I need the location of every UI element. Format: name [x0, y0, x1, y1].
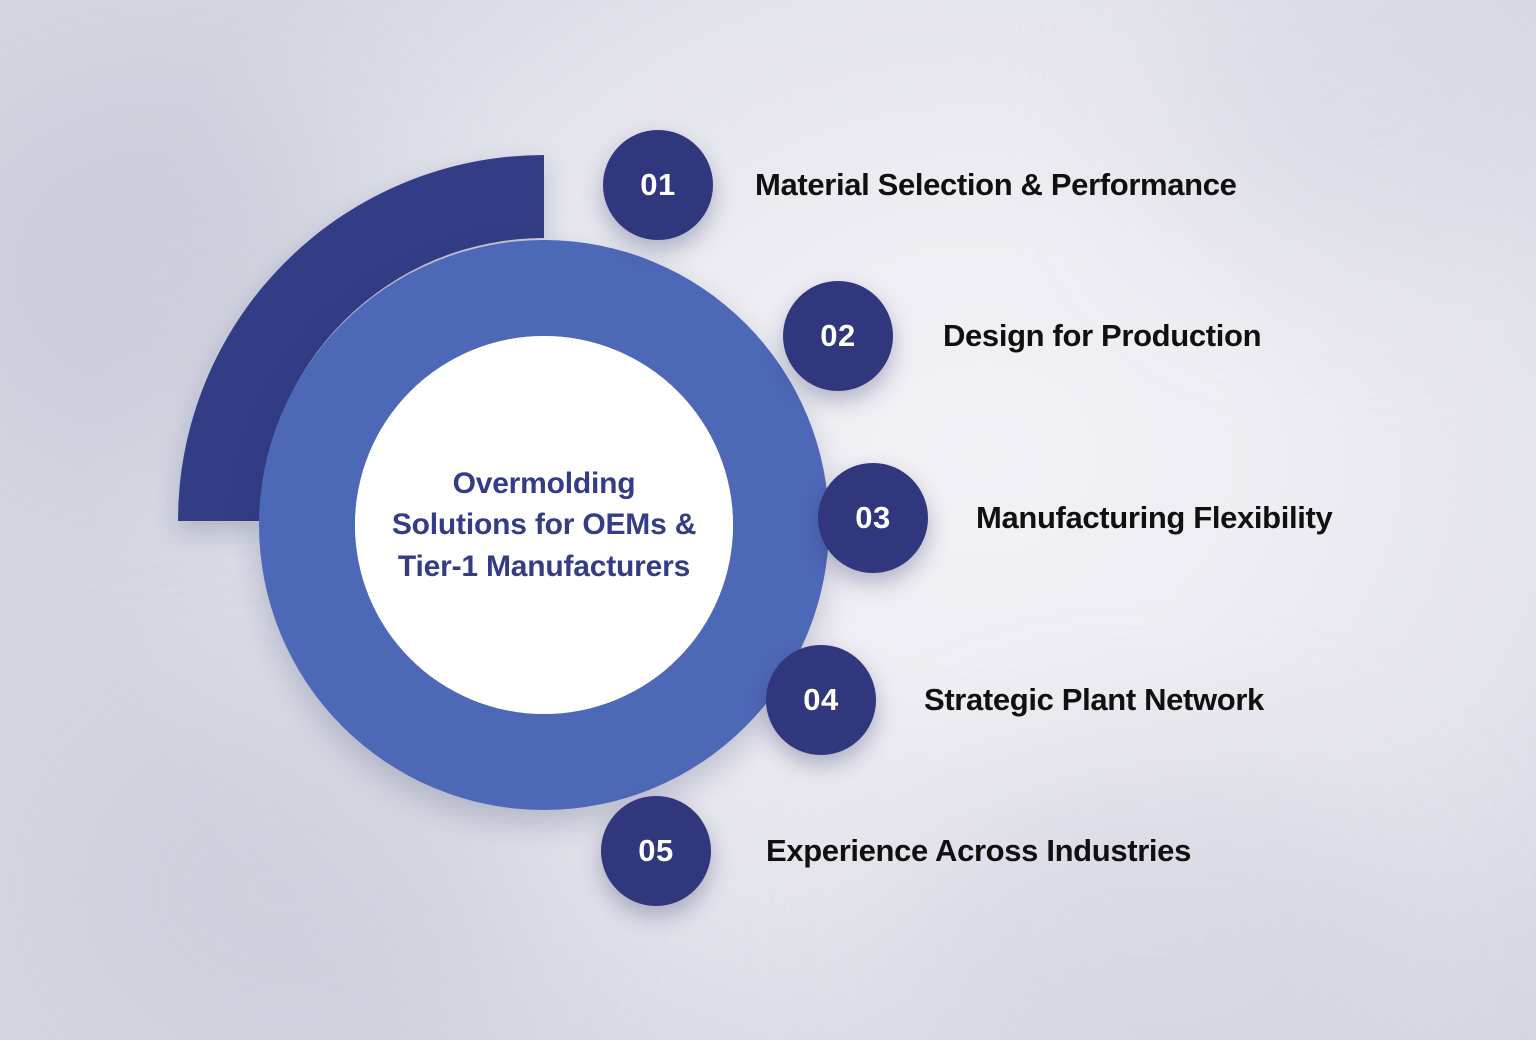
- center-title-line-1: Overmolding: [379, 463, 709, 504]
- step-item-04[interactable]: 04 Strategic Plant Network: [766, 645, 1264, 755]
- step-item-03[interactable]: 03 Manufacturing Flexibility: [818, 463, 1332, 573]
- main-donut-ring: Overmolding Solutions for OEMs & Tier-1 …: [259, 240, 829, 810]
- step-item-01[interactable]: 01 Material Selection & Performance: [603, 130, 1237, 240]
- step-label-04: Strategic Plant Network: [924, 682, 1264, 718]
- center-title: Overmolding Solutions for OEMs & Tier-1 …: [379, 463, 709, 587]
- step-badge-02: 02: [783, 281, 893, 391]
- center-title-line-2: Solutions for OEMs &: [379, 504, 709, 545]
- step-badge-05: 05: [601, 796, 711, 906]
- step-item-02[interactable]: 02 Design for Production: [783, 281, 1261, 391]
- step-badge-03: 03: [818, 463, 928, 573]
- step-badge-01: 01: [603, 130, 713, 240]
- step-label-03: Manufacturing Flexibility: [976, 500, 1332, 536]
- infographic-stage: Overmolding Solutions for OEMs & Tier-1 …: [0, 0, 1536, 1040]
- step-badge-04: 04: [766, 645, 876, 755]
- step-item-05[interactable]: 05 Experience Across Industries: [601, 796, 1191, 906]
- step-label-02: Design for Production: [943, 318, 1261, 354]
- step-label-01: Material Selection & Performance: [755, 167, 1237, 203]
- center-title-line-3: Tier-1 Manufacturers: [379, 546, 709, 587]
- step-label-05: Experience Across Industries: [766, 833, 1191, 869]
- donut-inner-circle: Overmolding Solutions for OEMs & Tier-1 …: [355, 336, 733, 714]
